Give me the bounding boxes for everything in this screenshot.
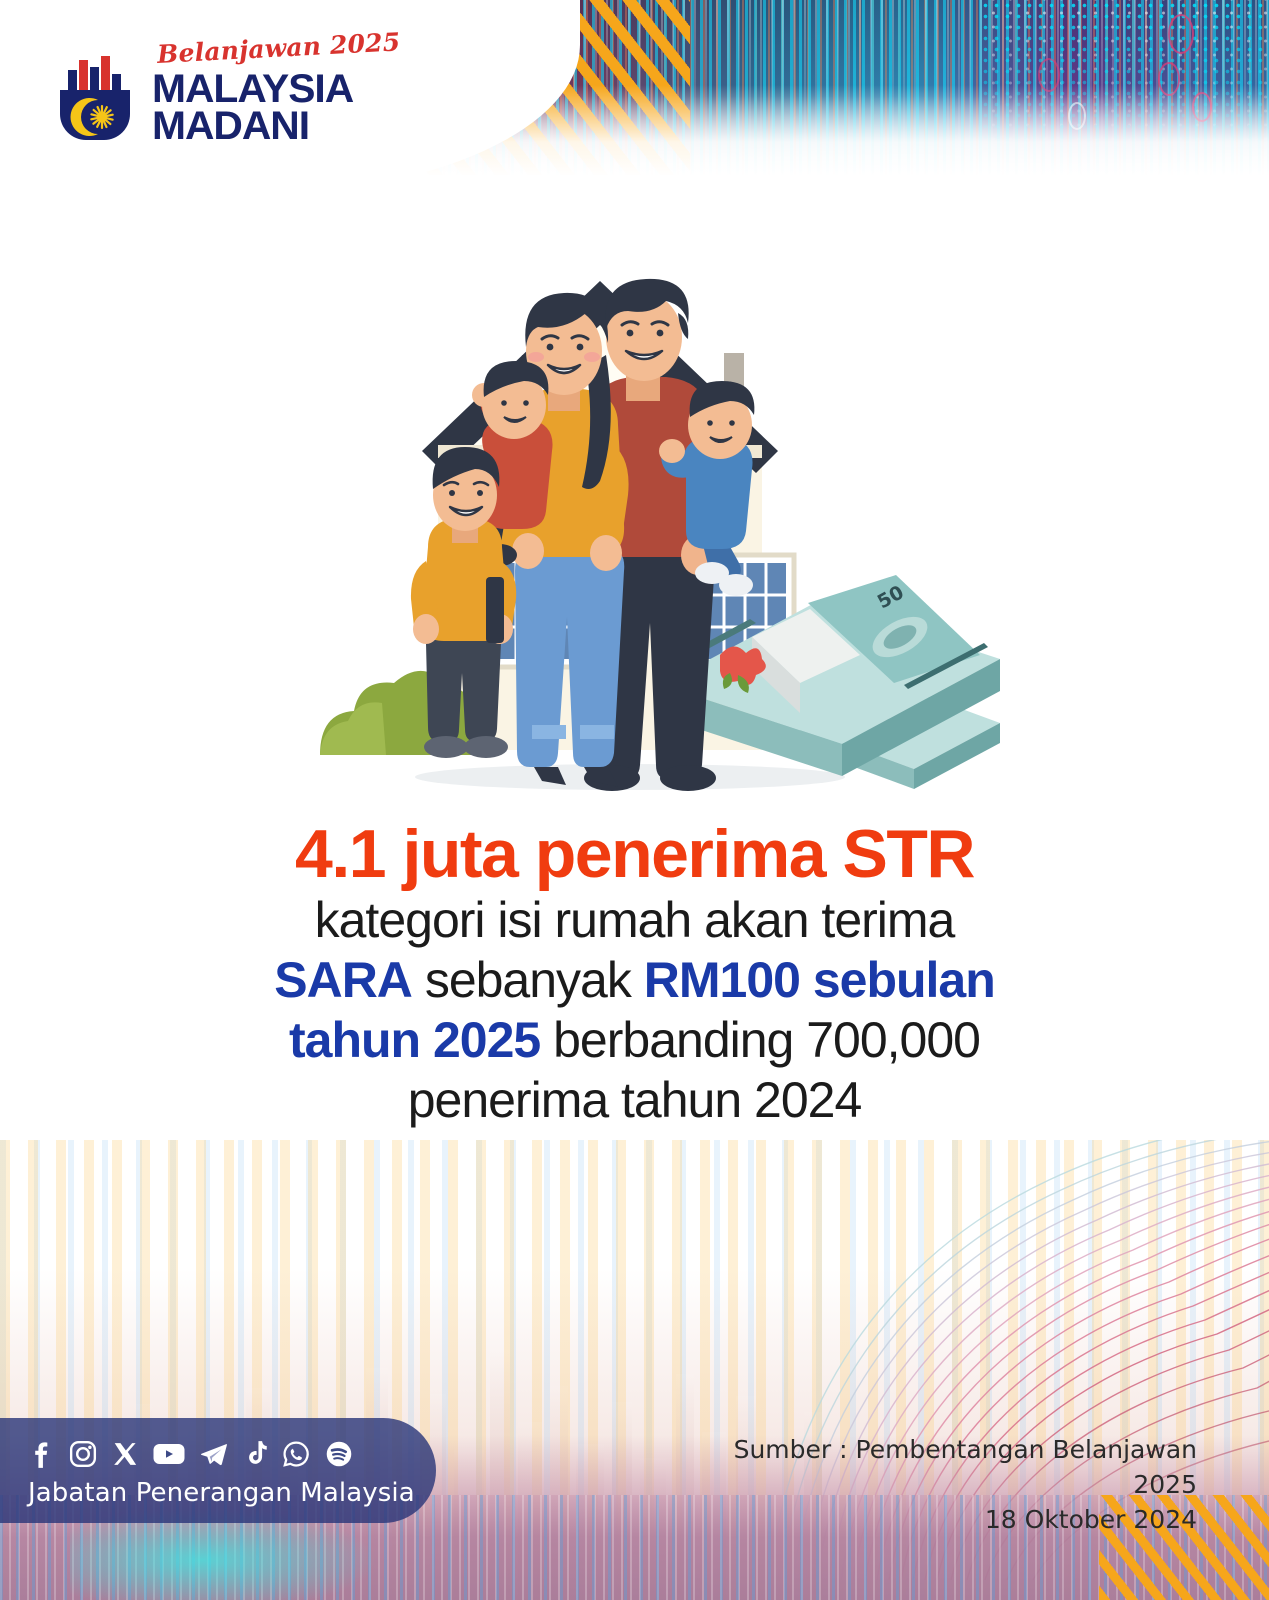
logo-line-malaysia: MALAYSIA	[152, 71, 356, 108]
headline-line-5: penerima tahun 2024	[0, 1070, 1269, 1130]
whatsapp-icon[interactable]	[282, 1440, 310, 1468]
headline-line-4: tahun 2025 berbanding 700,000	[0, 1010, 1269, 1070]
headline-tahun-2025: tahun 2025	[289, 1012, 540, 1068]
family-house-illustration: 50	[300, 255, 1030, 815]
youtube-icon[interactable]	[153, 1442, 185, 1466]
headline-sara: SARA	[274, 952, 412, 1008]
logo-line-madani: MADANI	[152, 108, 356, 145]
infographic-poster: Belanjawan 2025 MALAYSIA MADANI	[0, 0, 1269, 1600]
department-name: Jabatan Penerangan Malaysia	[28, 1478, 436, 1508]
headline-line-2: kategori isi rumah akan terima	[0, 890, 1269, 950]
headline-sebanyak: sebanyak	[412, 952, 644, 1008]
spotify-icon[interactable]	[325, 1440, 353, 1468]
x-twitter-icon[interactable]	[112, 1441, 138, 1467]
malaysia-madani-logo: Belanjawan 2025 MALAYSIA MADANI	[52, 40, 302, 150]
headline-primary: 4.1 juta penerima STR	[0, 818, 1269, 890]
headline-berbanding: berbanding 700,000	[540, 1012, 980, 1068]
source-attribution: Sumber : Pembentangan Belanjawan 2025 18…	[677, 1432, 1197, 1537]
social-icon-row	[28, 1434, 436, 1474]
source-line-1: Sumber : Pembentangan Belanjawan 2025	[677, 1432, 1197, 1502]
telegram-icon[interactable]	[200, 1442, 228, 1466]
headline-block: 4.1 juta penerima STR kategori isi rumah…	[0, 818, 1269, 1130]
tiktok-icon[interactable]	[243, 1440, 267, 1468]
headline-line-3: SARA sebanyak RM100 sebulan	[0, 950, 1269, 1010]
source-line-2: 18 Oktober 2024	[677, 1502, 1197, 1537]
malaysia-madani-emblem	[52, 54, 144, 140]
footer-social-pill: Jabatan Penerangan Malaysia	[0, 1418, 436, 1523]
facebook-icon[interactable]	[28, 1439, 54, 1469]
headline-rm100-sebulan: RM100 sebulan	[644, 952, 995, 1008]
instagram-icon[interactable]	[69, 1440, 97, 1468]
